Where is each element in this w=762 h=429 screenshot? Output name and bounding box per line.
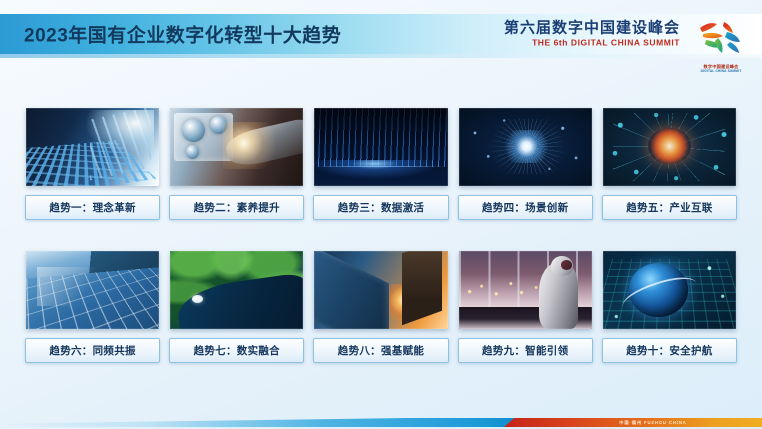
trend-label-3: 趋势三：数据激活 [313,195,448,220]
trend-label-1: 趋势一：理念革新 [25,195,160,220]
trend-card-10[interactable]: 趋势十：安全护航 [603,251,736,363]
trend-label-8: 趋势八：强基赋能 [313,338,448,363]
slide-footer: 中国·福州 FUZHOU CHINA [0,409,762,429]
footer-blue-swoosh [0,418,520,427]
trend-card-9[interactable]: 趋势九：智能引领 [459,251,592,363]
trend-thumbnail-9 [459,251,592,329]
summit-branding: 第六届数字中国建设峰会 THE 6th DIGITAL CHINA SUMMIT [504,21,680,48]
trend-thumbnail-10 [603,251,736,329]
sunrise-skyscraper-image [314,251,447,329]
trend-thumbnail-6 [26,251,159,329]
trend-thumbnail-2 [170,108,303,186]
trend-card-6[interactable]: 趋势六：同频共振 [26,251,159,363]
data-rain-image [314,108,447,186]
trend-label-4: 趋势四：场景创新 [458,195,593,220]
keyboard-tunnel-image [26,108,159,186]
footer-red-bar: 中国·福州 FUZHOU CHINA [504,418,762,427]
trend-thumbnail-8 [314,251,447,329]
forest-river-image [170,251,303,329]
trend-card-grid: 趋势一：理念革新 趋势二：素养提升 趋势三：数据激活 [26,108,736,363]
summit-logo-subtitle-cn: 数字中国建设峰会 [703,64,738,69]
trend-thumbnail-5 [603,108,736,186]
slide-header: 2023年国有企业数字化转型十大趋势 第六届数字中国建设峰会 THE 6th D… [0,14,762,54]
trend-card-5[interactable]: 趋势五：产业互联 [603,108,736,220]
page-title: 2023年国有企业数字化转型十大趋势 [24,21,341,48]
light-burst-network-image [459,108,592,186]
trend-label-9: 趋势九：智能引领 [458,338,593,363]
trend-label-10: 趋势十：安全护航 [602,338,737,363]
trend-label-2: 趋势二：素养提升 [169,195,304,220]
footer-location-text: 中国·福州 FUZHOU CHINA [619,420,686,426]
trend-card-8[interactable]: 趋势八：强基赋能 [314,251,447,363]
trend-thumbnail-7 [170,251,303,329]
trend-card-3[interactable]: 趋势三：数据激活 [314,108,447,220]
trend-card-2[interactable]: 趋势二：素养提升 [170,108,303,220]
summit-logo-subtitle: 数字中国建设峰会 DIGITAL CHINA SUMMIT [688,64,754,73]
summit-logo-subtitle-en: DIGITAL CHINA SUMMIT [688,69,754,73]
trend-label-7: 趋势七：数实融合 [169,338,304,363]
secure-globe-circuit-image [603,251,736,329]
trend-thumbnail-1 [26,108,159,186]
control-panel-hand-image [170,108,303,186]
slide: 2023年国有企业数字化转型十大趋势 第六届数字中国建设峰会 THE 6th D… [0,0,762,429]
solar-panel-image [26,251,159,329]
summit-title-en: THE 6th DIGITAL CHINA SUMMIT [504,38,680,47]
summit-title-cn: 第六届数字中国建设峰会 [504,21,680,37]
trend-card-1[interactable]: 趋势一：理念革新 [26,108,159,220]
trend-thumbnail-3 [314,108,447,186]
summit-logo: 数字中国建设峰会 DIGITAL CHINA SUMMIT [688,18,754,74]
trend-label-6: 趋势六：同频共振 [25,338,160,363]
humanoid-robot-image [459,251,592,329]
trend-thumbnail-4 [459,108,592,186]
iot-hub-image [603,108,736,186]
trend-card-7[interactable]: 趋势七：数实融合 [170,251,303,363]
trend-card-4[interactable]: 趋势四：场景创新 [459,108,592,220]
summit-logo-calligraphy-icon [694,18,748,56]
trend-label-5: 趋势五：产业互联 [602,195,737,220]
